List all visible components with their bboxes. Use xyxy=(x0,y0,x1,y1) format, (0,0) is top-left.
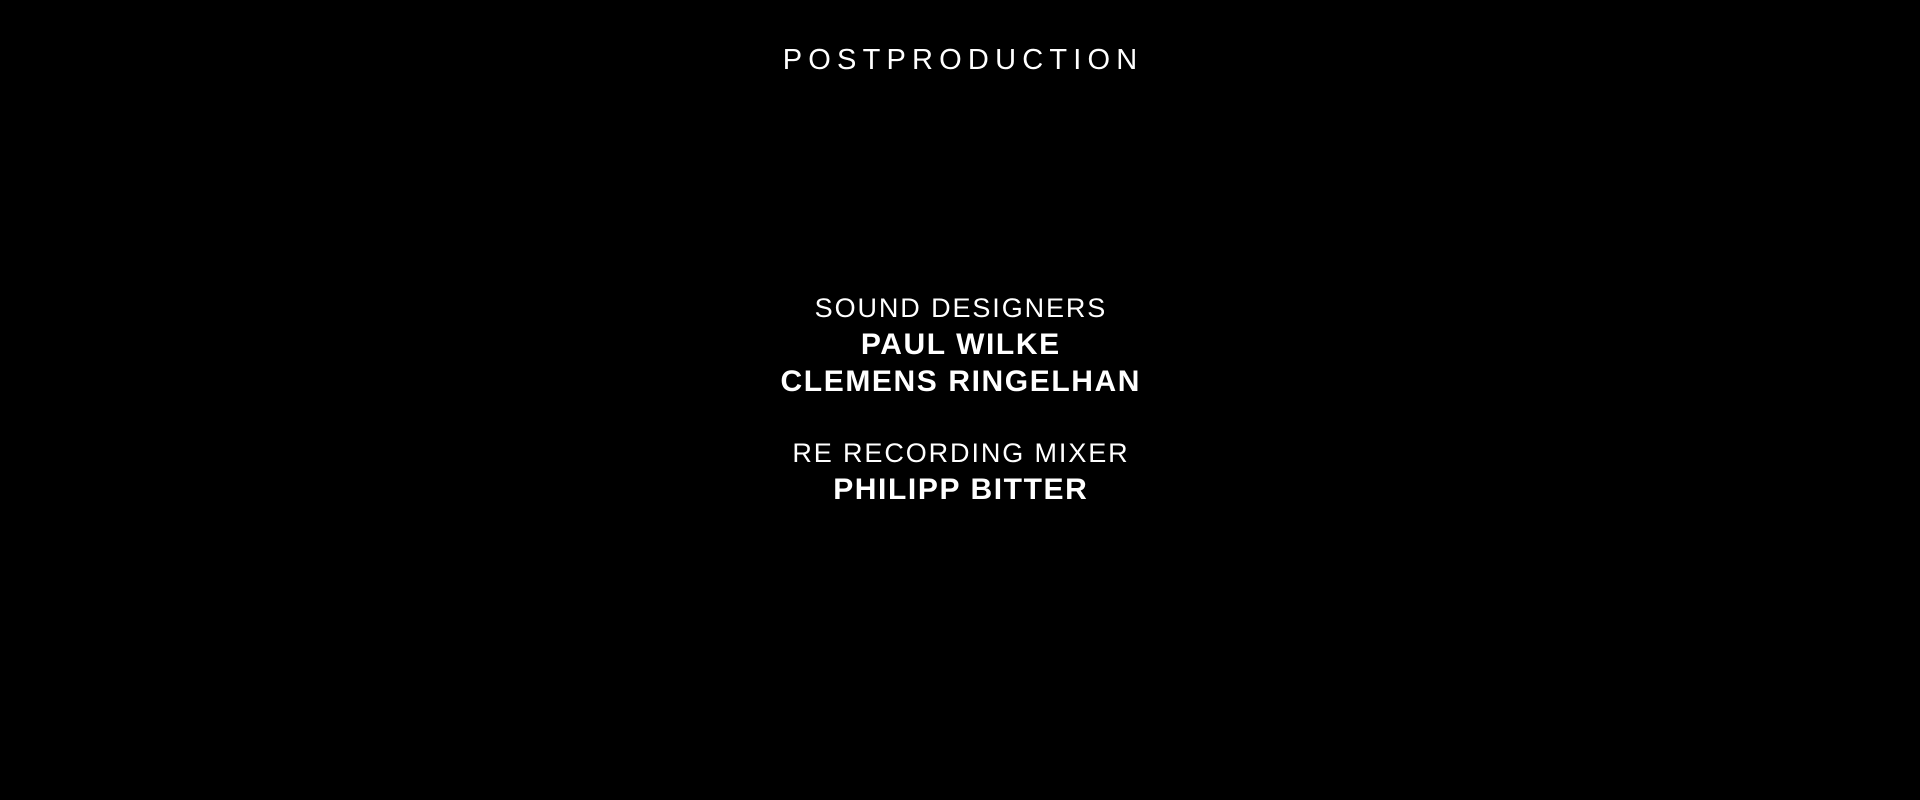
credit-name: PAUL WILKE xyxy=(0,326,1920,363)
credit-block-sound-designers: SOUND DESIGNERS PAUL WILKE CLEMENS RINGE… xyxy=(0,290,1920,400)
credits-stack: SOUND DESIGNERS PAUL WILKE CLEMENS RINGE… xyxy=(0,290,1920,508)
credit-name: PHILIPP BITTER xyxy=(0,471,1920,508)
credit-role-label: SOUND DESIGNERS xyxy=(0,290,1920,326)
credit-name: CLEMENS RINGELHAN xyxy=(0,363,1920,400)
credit-block-re-recording-mixer: RE RECORDING MIXER PHILIPP BITTER xyxy=(0,435,1920,508)
credits-screen: POSTPRODUCTION SOUND DESIGNERS PAUL WILK… xyxy=(0,0,1920,800)
credit-role-label: RE RECORDING MIXER xyxy=(0,435,1920,471)
section-header-postproduction: POSTPRODUCTION xyxy=(0,46,1920,75)
